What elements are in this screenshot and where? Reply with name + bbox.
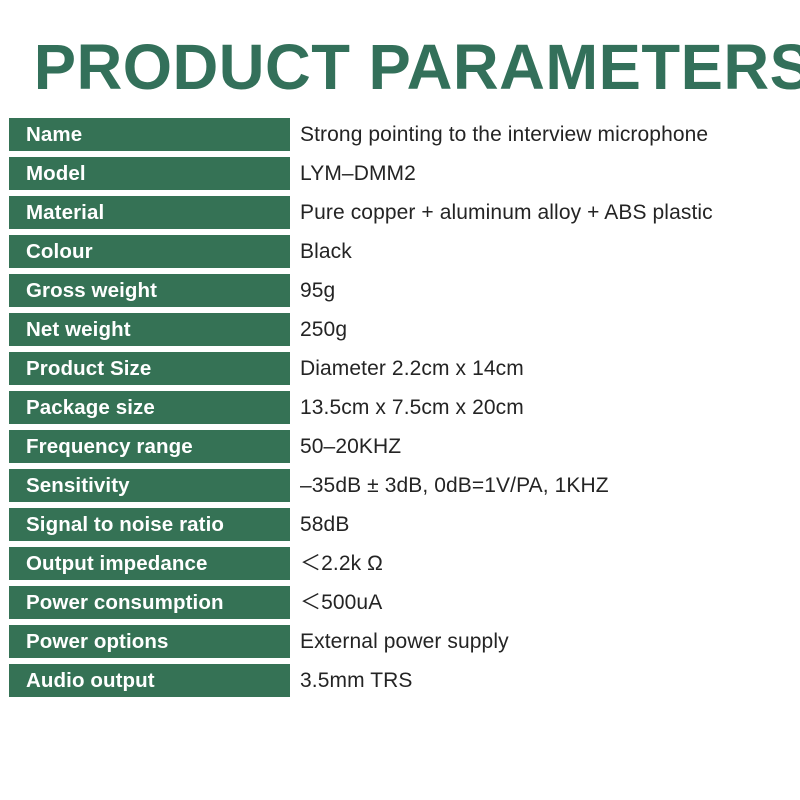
spec-value: 95g (300, 274, 335, 307)
table-row: Signal to noise ratio58dB (0, 508, 800, 541)
spec-label: Power options (9, 625, 290, 658)
spec-label: Power consumption (9, 586, 290, 619)
table-row: Output impedance＜2.2k Ω (0, 547, 800, 580)
table-row: ColourBlack (0, 235, 800, 268)
table-row: Power optionsExternal power supply (0, 625, 800, 658)
spec-value: LYM–DMM2 (300, 157, 416, 190)
spec-label: Sensitivity (9, 469, 290, 502)
table-row: MaterialPure copper + aluminum alloy + A… (0, 196, 800, 229)
spec-value: Pure copper + aluminum alloy + ABS plast… (300, 196, 713, 229)
spec-value: 13.5cm x 7.5cm x 20cm (300, 391, 524, 424)
table-row: Sensitivity–35dB ± 3dB, 0dB=1V/PA, 1KHZ (0, 469, 800, 502)
spec-label: Product Size (9, 352, 290, 385)
spec-value: –35dB ± 3dB, 0dB=1V/PA, 1KHZ (300, 469, 609, 502)
table-row: ModelLYM–DMM2 (0, 157, 800, 190)
spec-value: Diameter 2.2cm x 14cm (300, 352, 524, 385)
product-parameters-page: PRODUCT PARAMETERS NameStrong pointing t… (0, 0, 800, 800)
table-row: Power consumption＜500uA (0, 586, 800, 619)
spec-value: 58dB (300, 508, 349, 541)
table-row: Package size13.5cm x 7.5cm x 20cm (0, 391, 800, 424)
spec-label: Package size (9, 391, 290, 424)
spec-value: Strong pointing to the interview microph… (300, 118, 708, 151)
spec-label: Model (9, 157, 290, 190)
spec-label: Name (9, 118, 290, 151)
spec-label: Net weight (9, 313, 290, 346)
spec-label: Gross weight (9, 274, 290, 307)
table-row: Frequency range50–20KHZ (0, 430, 800, 463)
spec-value: 250g (300, 313, 347, 346)
spec-label: Frequency range (9, 430, 290, 463)
table-row: Product SizeDiameter 2.2cm x 14cm (0, 352, 800, 385)
spec-label: Signal to noise ratio (9, 508, 290, 541)
spec-label: Output impedance (9, 547, 290, 580)
table-row: Gross weight95g (0, 274, 800, 307)
spec-label: Audio output (9, 664, 290, 697)
spec-value: 3.5mm TRS (300, 664, 413, 697)
spec-value: External power supply (300, 625, 509, 658)
spec-label: Material (9, 196, 290, 229)
spec-value: 50–20KHZ (300, 430, 401, 463)
spec-value: ＜500uA (300, 586, 382, 619)
spec-value: ＜2.2k Ω (300, 547, 383, 580)
table-row: Net weight250g (0, 313, 800, 346)
table-row: NameStrong pointing to the interview mic… (0, 118, 800, 151)
spec-table: NameStrong pointing to the interview mic… (0, 118, 800, 703)
table-row: Audio output3.5mm TRS (0, 664, 800, 697)
spec-value: Black (300, 235, 352, 268)
spec-label: Colour (9, 235, 290, 268)
page-title: PRODUCT PARAMETERS (34, 34, 767, 100)
